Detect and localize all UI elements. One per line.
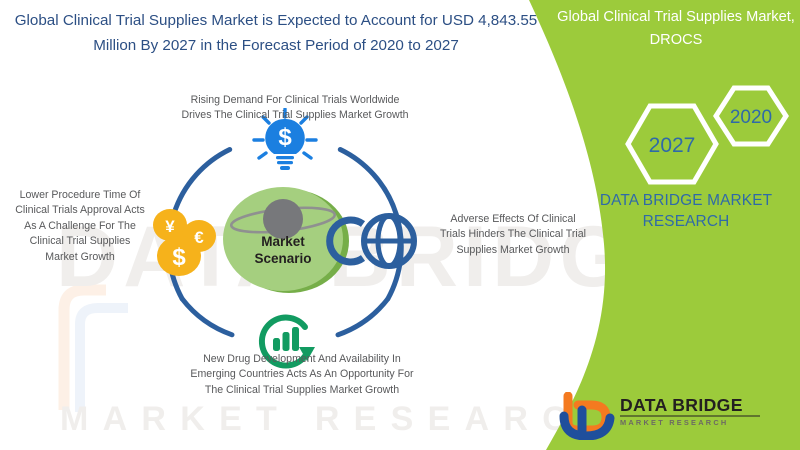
- headline-line-2: Million By 2027 in the Forecast Period o…: [93, 37, 459, 54]
- headline-line-1: Global Clinical Trial Supplies Market is…: [15, 12, 538, 29]
- callout-opportunity-line-1: New Drug Development And Availability In: [203, 353, 401, 365]
- panel-title-line-2: DROCS: [650, 32, 703, 48]
- hexagon-2020: 2020: [716, 88, 786, 144]
- center-label-line-1: Market: [261, 234, 305, 249]
- brand-heading-line-2: RESEARCH: [643, 213, 730, 230]
- callout-challenge-line-1: Lower Procedure Time Of: [20, 189, 141, 201]
- callout-restraint-line-2: Trials Hinders The Clinical Trial: [440, 228, 586, 240]
- coin-dollar: $: [157, 236, 201, 276]
- brand-heading: DATA BRIDGE MARKET RESEARCH: [576, 190, 796, 232]
- drocs-wheel-diagram: Market Scenario $ ¥: [152, 108, 418, 374]
- callout-restraint-line-1: Adverse Effects Of Clinical: [450, 213, 575, 225]
- hexagon-2027-label: 2027: [649, 134, 696, 157]
- callout-challenge-line-4: Clinical Trial Supplies: [30, 235, 131, 247]
- svg-text:¥: ¥: [165, 217, 175, 236]
- logo-name: DATA BRIDGE: [620, 396, 780, 415]
- svg-text:$: $: [172, 244, 186, 271]
- coins-icon: ¥ € $: [153, 209, 216, 276]
- page-title: Global Clinical Trial Supplies Market is…: [14, 8, 538, 58]
- callout-opportunity-line-3: The Clinical Trial Supplies Market Growt…: [205, 384, 399, 396]
- logo-wordmark: DATA BRIDGE MARKET RESEARCH: [620, 396, 780, 428]
- brand-heading-line-1: DATA BRIDGE MARKET: [600, 192, 772, 209]
- callout-opportunity-line-2: Emerging Countries Acts As An Opportunit…: [190, 368, 413, 380]
- callout-driver: Rising Demand For Clinical Trials Worldw…: [170, 93, 420, 124]
- callout-challenge-line-3: As A Challenge For The: [24, 220, 136, 232]
- callout-restraint-line-3: Supplies Market Growth: [456, 244, 569, 256]
- callout-driver-line-1: Rising Demand For Clinical Trials Worldw…: [191, 94, 400, 106]
- hexagon-2027: 2027: [628, 106, 716, 182]
- infographic-canvas: DATA BRIDGE MARKET RESEARCH Global Clini…: [0, 0, 800, 450]
- center-label-line-2: Scenario: [254, 251, 311, 266]
- callout-restraint: Adverse Effects Of Clinical Trials Hinde…: [432, 212, 594, 258]
- callout-opportunity: New Drug Development And Availability In…: [160, 352, 444, 398]
- callout-challenge: Lower Procedure Time Of Clinical Trials …: [4, 188, 156, 265]
- callout-driver-line-2: Drives The Clinical Trial Supplies Marke…: [181, 109, 408, 121]
- hexagon-2020-label: 2020: [730, 107, 772, 128]
- hexagon-year-badges: 2020 2027: [620, 80, 795, 200]
- data-bridge-b-mark: [564, 396, 610, 436]
- panel-title-line-1: Global Clinical Trial Supplies Market,: [557, 9, 795, 25]
- callout-challenge-line-2: Clinical Trials Approval Acts: [15, 204, 145, 216]
- dollar-glyph: $: [278, 124, 292, 151]
- callout-challenge-line-5: Market Growth: [45, 251, 114, 263]
- logo-tagline: MARKET RESEARCH: [620, 417, 780, 428]
- panel-title: Global Clinical Trial Supplies Market, D…: [556, 6, 796, 52]
